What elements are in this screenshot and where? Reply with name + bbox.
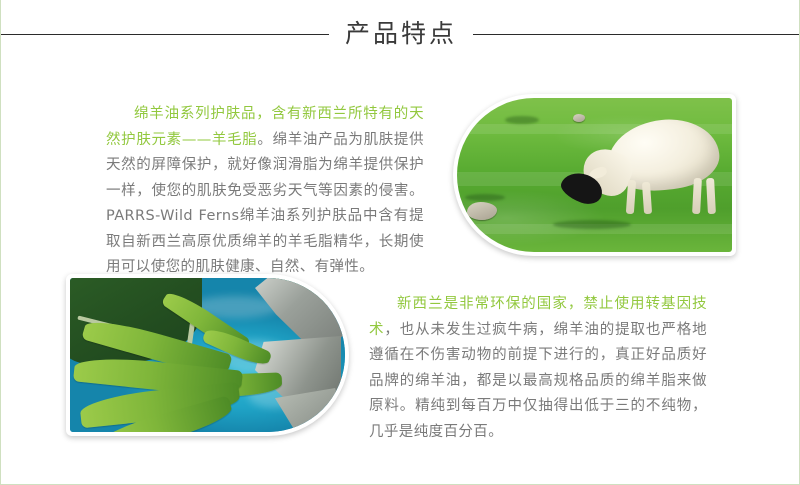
feature-paragraph-eco-country: 新西兰是非常环保的国家，禁止使用转基因技术，也从未发生过疯牛病，绵羊油的提取也严… bbox=[369, 292, 707, 445]
page-title: 产品特点 bbox=[329, 21, 473, 46]
grass-patch bbox=[465, 194, 505, 201]
sheep-pasture-scene bbox=[457, 98, 732, 252]
header-rule-left bbox=[0, 34, 329, 35]
grass-patch bbox=[553, 220, 631, 229]
fern-lagoon-photo bbox=[66, 274, 349, 436]
small-rock bbox=[467, 202, 497, 220]
feature-paragraph-sheep-oil: 绵羊油系列护肤品，含有新西兰所特有的天然护肤元素——羊毛脂。绵羊油产品为肌肤提供… bbox=[106, 102, 424, 281]
sheep-photo-inner bbox=[457, 98, 732, 252]
header-rule-right bbox=[473, 34, 800, 35]
paragraph-body: 。绵羊油产品为肌肤提供天然的屏障保护，就好像润滑脂为绵羊提供保护一样，使您的肌肤… bbox=[106, 132, 424, 276]
fern-photo-inner bbox=[70, 278, 345, 432]
paragraph-body: ，也从未发生过疯牛病，绵羊油的提取也严格地遵循在不伤害动物的前提下进行的，真正好… bbox=[369, 322, 707, 440]
small-rock bbox=[573, 114, 585, 122]
page-header: 产品特点 bbox=[1, 0, 800, 68]
fern-lagoon-scene bbox=[70, 278, 345, 432]
sheep-leg bbox=[692, 178, 702, 214]
sheep-grazing-photo bbox=[453, 94, 736, 256]
product-features-page: 产品特点 bbox=[0, 0, 800, 485]
sheep-leg bbox=[626, 180, 636, 214]
grass-patch bbox=[505, 116, 539, 124]
